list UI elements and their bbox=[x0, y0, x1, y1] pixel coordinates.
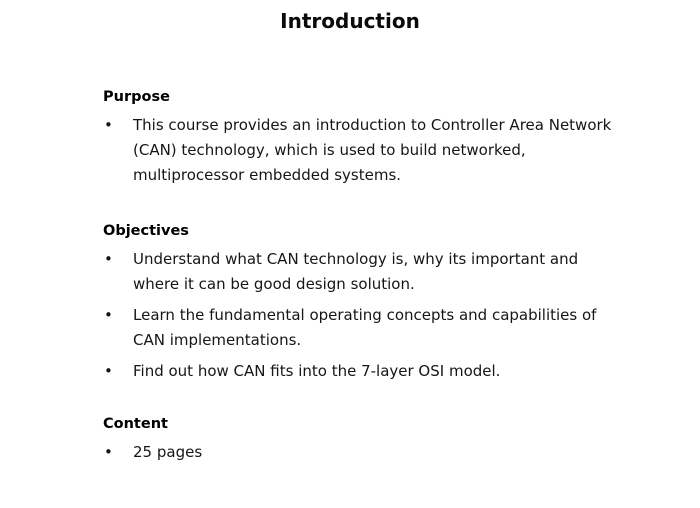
list-item-text: This course provides an introduction to … bbox=[133, 113, 613, 188]
section-heading-objectives: Objectives bbox=[103, 222, 613, 241]
bullet-list-purpose: • This course provides an introduction t… bbox=[103, 113, 613, 188]
section-heading-content: Content bbox=[103, 415, 613, 434]
section-content: Content • 25 pages bbox=[103, 415, 613, 465]
section-objectives: Objectives • Understand what CAN technol… bbox=[103, 222, 613, 384]
section-spacer bbox=[103, 188, 613, 222]
bullet-point-icon: • bbox=[104, 440, 113, 465]
bullet-point-icon: • bbox=[104, 113, 113, 138]
slide-canvas: Introduction Purpose • This course provi… bbox=[0, 0, 700, 508]
bullet-point-icon: • bbox=[104, 359, 113, 384]
list-item-text: Find out how CAN fits into the 7-layer O… bbox=[133, 359, 613, 384]
list-item: • Understand what CAN technology is, why… bbox=[103, 247, 613, 297]
list-item: • Find out how CAN fits into the 7-layer… bbox=[103, 359, 613, 384]
list-item-text: Learn the fundamental operating concepts… bbox=[133, 303, 613, 353]
section-spacer bbox=[103, 384, 613, 415]
page-title: Introduction bbox=[0, 9, 700, 33]
bullet-list-objectives: • Understand what CAN technology is, why… bbox=[103, 247, 613, 384]
bullet-list-content: • 25 pages bbox=[103, 440, 613, 465]
list-item: • Learn the fundamental operating concep… bbox=[103, 303, 613, 353]
list-item-text: 25 pages bbox=[133, 440, 613, 465]
section-heading-purpose: Purpose bbox=[103, 88, 613, 107]
list-item: • This course provides an introduction t… bbox=[103, 113, 613, 188]
list-item: • 25 pages bbox=[103, 440, 613, 465]
list-item-text: Understand what CAN technology is, why i… bbox=[133, 247, 613, 297]
bullet-point-icon: • bbox=[104, 247, 113, 272]
section-purpose: Purpose • This course provides an introd… bbox=[103, 88, 613, 188]
bullet-point-icon: • bbox=[104, 303, 113, 328]
slide-body: Purpose • This course provides an introd… bbox=[103, 88, 613, 465]
